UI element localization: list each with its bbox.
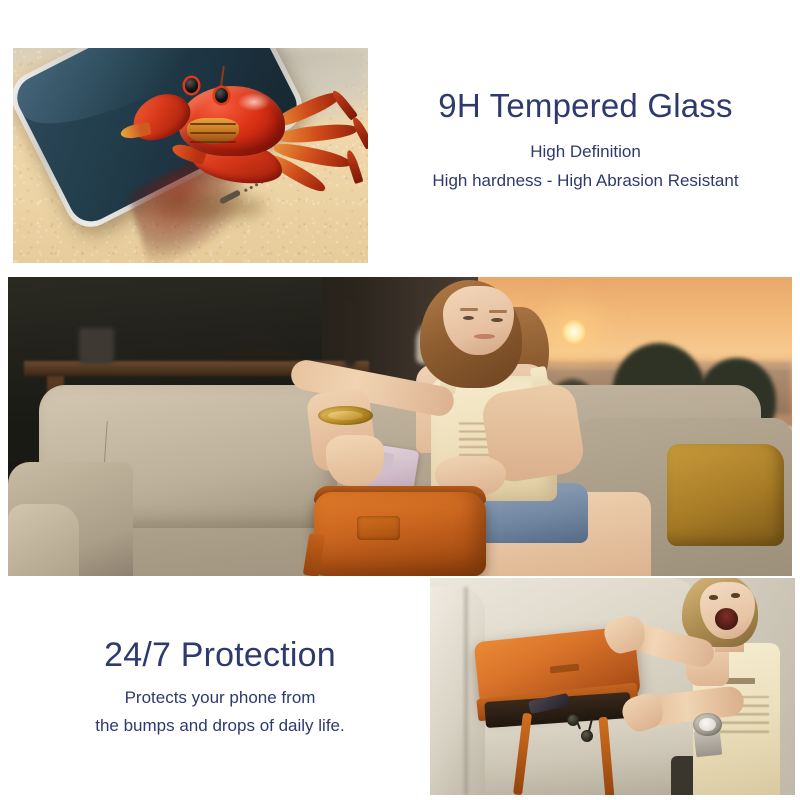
feature-glass-headline: 9H Tempered Glass [383, 88, 788, 125]
couch-armrest-front [8, 504, 79, 576]
feature-protection-text-block: 24/7 Protection Protects your phone from… [25, 636, 415, 736]
woman-eye [709, 595, 718, 599]
woman-left-hand [326, 435, 385, 486]
shelf-vase [79, 328, 114, 364]
feature-glass-subline-1: High Definition [383, 142, 788, 162]
shelf-candle [345, 301, 356, 367]
woman-eyebrow [489, 310, 507, 313]
crab-leg [276, 122, 357, 145]
crab-leg-tip [330, 88, 358, 120]
gold-chain-bracelet [318, 406, 373, 425]
feature-protection-headline: 24/7 Protection [25, 636, 415, 674]
feature-protection-subline-2: the bumps and drops of daily life. [25, 716, 415, 736]
feature-glass-text-block: 9H Tempered Glass High Definition High h… [383, 88, 788, 191]
feature-glass-subline-2: High hardness - High Abrasion Resistant [383, 171, 788, 191]
crab-mouthparts [187, 118, 239, 144]
photo-woman-shocked-bag-spilling [430, 578, 795, 795]
feature-protection-subline-1: Protects your phone from [25, 688, 415, 708]
red-crab [131, 66, 361, 234]
photo-woman-placing-phone-in-bag [8, 277, 792, 576]
falling-sunglasses [565, 708, 631, 747]
woman-eye [731, 593, 740, 597]
sofa-armrest [430, 587, 485, 795]
product-feature-collage: 9H Tempered Glass High Definition High h… [0, 0, 800, 800]
woman-lips [474, 334, 494, 339]
crab-eye [215, 88, 228, 103]
setting-sun [561, 319, 587, 345]
bag-leather-patch [357, 516, 400, 540]
sunglasses-lens [581, 730, 593, 742]
orange-leather-bag [314, 492, 486, 576]
crab-eye [185, 78, 198, 93]
mustard-throw-pillow [667, 444, 785, 546]
shelf-book [228, 349, 299, 358]
woman-eye [491, 318, 503, 322]
photo-crab-on-sand-with-phone [13, 48, 368, 263]
woman-eyebrow [460, 308, 478, 311]
wristwatch [693, 713, 722, 737]
